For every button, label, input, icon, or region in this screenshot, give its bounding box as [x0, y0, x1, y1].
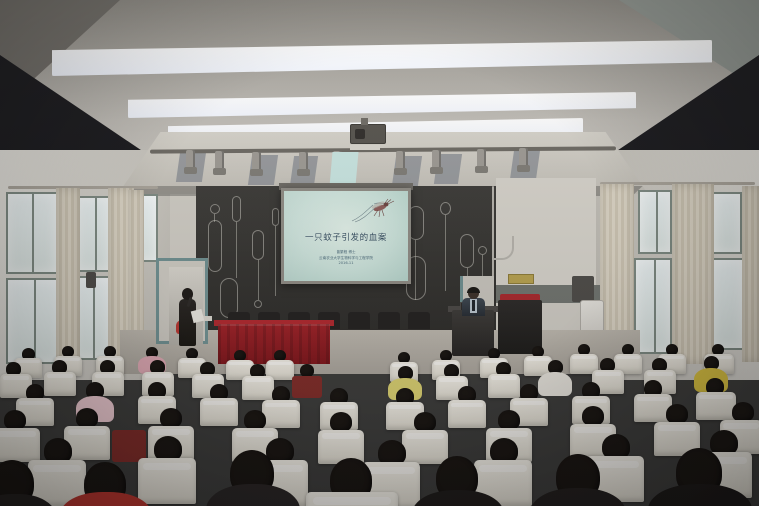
spotlight [215, 151, 224, 171]
window-mullion [32, 194, 34, 272]
window-right-far-upper [712, 192, 742, 254]
chalk-art-shape [210, 204, 220, 214]
spotlight [299, 152, 308, 172]
chalk-art-line [275, 226, 276, 296]
spotlight [396, 151, 405, 171]
audience-head [330, 412, 352, 432]
window-mullion [95, 198, 97, 270]
audience-shoulders-white-shirt [538, 372, 572, 396]
audience-head [160, 408, 182, 428]
chalk-art-shape [460, 234, 474, 268]
projector-lens-icon [355, 129, 365, 139]
seat [0, 428, 40, 462]
audience-head [76, 408, 98, 428]
spotlight [432, 150, 441, 170]
chalk-art-shape [272, 208, 279, 226]
seat [448, 400, 486, 428]
ceiling-light-strip-1 [52, 40, 712, 76]
chalk-art-shape [208, 220, 222, 272]
window-right-upper [638, 190, 672, 254]
hanging-cable [492, 186, 494, 278]
stage-chair [408, 312, 430, 329]
seat-uncovered [292, 376, 322, 398]
window-left-upper [6, 192, 58, 274]
chalk-art-shape [232, 196, 241, 222]
speaker-tie [472, 300, 475, 311]
spotlight [186, 150, 195, 170]
chalk-art-line [236, 222, 237, 278]
audience-head [4, 410, 26, 430]
projection-screen-frame: 一只蚊子引发的血案 曾繁程 博士 云南农业大学生物科学与工程学院 2016-11 [281, 188, 411, 284]
curtain-rod-left [8, 186, 158, 189]
audience-head [414, 412, 436, 432]
spotlight [252, 152, 261, 172]
spotlight [519, 148, 528, 168]
stage-chair [348, 312, 370, 329]
chalk-art-shape [252, 230, 264, 260]
chalk-art-line [258, 260, 259, 300]
audience-head [666, 404, 688, 424]
seat [488, 374, 520, 398]
wall-speaker-left [86, 272, 96, 288]
seat [262, 400, 300, 428]
projection-screen: 一只蚊子引发的血案 曾繁程 博士 云南农业大学生物科学与工程学院 2016-11 [284, 191, 408, 281]
spotlight [477, 149, 486, 169]
hanging-paper-note [330, 152, 359, 186]
podium-speaker [462, 288, 484, 314]
stage-chair [378, 312, 400, 329]
audience-head [582, 406, 604, 426]
audience-seating-area [0, 334, 759, 506]
speaker-hair [467, 287, 480, 293]
seat [138, 458, 196, 504]
seat [696, 392, 736, 420]
seat [306, 492, 398, 506]
lecture-hall-photo: 一只蚊子引发的血案 曾繁程 博士 云南农业大学生物科学与工程学院 2016-11 [0, 0, 759, 506]
screen-glare [284, 191, 408, 281]
ceiling-light-strip-2 [128, 92, 636, 118]
right-stage-wall [496, 178, 596, 288]
seat [242, 376, 274, 400]
window-left-mid-upper [76, 196, 112, 272]
wall-sign [508, 274, 534, 284]
audience-head [732, 402, 754, 422]
projector-mount-plate [350, 145, 380, 150]
audience-head [244, 410, 266, 430]
window-mullion [656, 192, 658, 252]
chalk-art-line [214, 214, 215, 222]
wall-speaker-right [572, 276, 594, 302]
ceiling-projector [350, 124, 386, 144]
seat [200, 398, 238, 426]
seat [402, 430, 448, 464]
chalk-art-line [445, 215, 446, 291]
chalk-art-shape [440, 202, 451, 215]
seat [44, 372, 76, 396]
chalk-art-shape [478, 246, 487, 255]
chalk-art-shape [254, 300, 262, 308]
audience-head [498, 410, 520, 430]
